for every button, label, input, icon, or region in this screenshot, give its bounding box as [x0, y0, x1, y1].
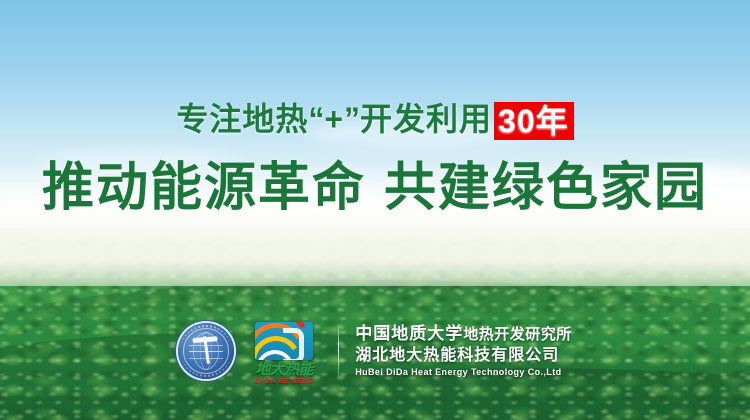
headline-block: 专注地热“+”开发利用30年 推动能源革命共建绿色家园: [0, 96, 750, 218]
subhead-prefix: 专注地热: [176, 101, 308, 137]
headline-left: 推动能源革命: [42, 159, 366, 217]
org-university-name: 中国地质大学: [355, 324, 463, 343]
rainbow-arc-icon: [255, 322, 313, 360]
org-company-name-cn: 湖北地大热能科技有限公司: [355, 345, 572, 366]
promo-banner: 专注地热“+”开发利用30年 推动能源革命共建绿色家园: [0, 0, 750, 420]
org-institute-name: 地热开发研究所: [463, 326, 572, 343]
subhead-quote-open: “: [308, 101, 324, 137]
mark-chinese-name: 地大热能: [248, 362, 320, 377]
organization-text: 中国地质大学地热开发研究所 湖北地大热能科技有限公司 HuBei DiDa He…: [355, 324, 572, 379]
subhead-quote-close: ”: [344, 101, 360, 137]
subhead-plus: +: [324, 101, 344, 137]
subhead-middle: 开发利用: [360, 101, 492, 137]
main-headline: 推动能源革命共建绿色家园: [0, 158, 750, 218]
headline-right: 共建绿色家园: [384, 159, 708, 217]
org-company-name-en: HuBei DiDa Heat Energy Technology Co.,Lt…: [355, 366, 572, 379]
sub-headline: 专注地热“+”开发利用30年: [0, 96, 750, 142]
globe-hammer-seal-icon: [178, 323, 234, 379]
forest-mist-overlay: [0, 228, 750, 286]
anniversary-badge: 30年: [494, 102, 574, 140]
mark-pinyin-name: DI DA RE NENG: [248, 377, 320, 386]
dida-rainbow-mark: 地大热能 DI DA RE NENG: [248, 322, 320, 380]
mark-hook-shape: [283, 328, 304, 360]
logo-bar: 地大热能 DI DA RE NENG 中国地质大学地热开发研究所 湖北地大热能科…: [0, 316, 750, 386]
logo-divider: [338, 325, 339, 377]
org-line-1: 中国地质大学地热开发研究所: [355, 324, 572, 345]
